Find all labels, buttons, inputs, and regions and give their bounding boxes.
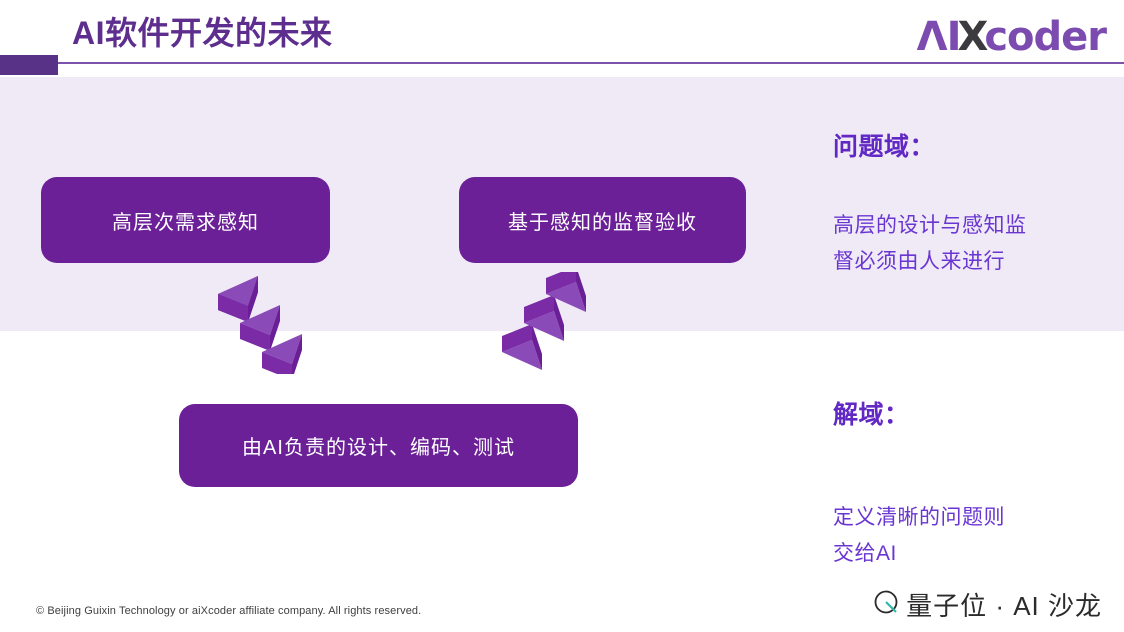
solution-domain-body-line-1: 定义清晰的问题则 bbox=[833, 500, 1103, 536]
aixcoder-logo-x: X bbox=[957, 14, 987, 60]
copyright-notice: © Beijing Guixin Technology or aiXcoder … bbox=[36, 605, 421, 617]
process-box-perception-based-supervision-acceptance[interactable]: 基于感知的监督验收 bbox=[459, 177, 746, 263]
solution-domain-heading: 解域： bbox=[833, 395, 910, 431]
solution-domain-body: 定义清晰的问题则 交给AI bbox=[833, 500, 1103, 572]
aixcoder-logo: ΛIXcoder bbox=[917, 17, 1106, 57]
problem-domain-body: 高层的设计与感知监 督必须由人来进行 bbox=[833, 208, 1103, 280]
problem-domain-heading: 问题域： bbox=[833, 127, 935, 163]
qbit-logo: 量子位 · AI 沙龙 bbox=[872, 588, 1102, 623]
chevron-down-right-icon-1 bbox=[218, 276, 258, 322]
problem-domain-body-line-2: 督必须由人来进行 bbox=[833, 244, 1103, 280]
qbit-q-icon bbox=[872, 588, 902, 623]
slide-root: AI软件开发的未来 ΛIXcoder 高层次需求感知 基于感知的监督验收 由AI… bbox=[0, 0, 1124, 632]
header-accent-block bbox=[0, 55, 58, 75]
process-box-ai-owned-design-coding-testing[interactable]: 由AI负责的设计、编码、测试 bbox=[179, 404, 578, 487]
chevron-down-right-triple-icon bbox=[196, 272, 306, 374]
problem-domain-body-line-1: 高层的设计与感知监 bbox=[833, 208, 1103, 244]
aixcoder-logo-coder: coder bbox=[984, 14, 1106, 60]
page-title: AI软件开发的未来 bbox=[72, 8, 333, 54]
chevron-up-right-triple-icon bbox=[480, 272, 590, 374]
process-box-high-level-requirement-perception[interactable]: 高层次需求感知 bbox=[41, 177, 330, 263]
aixcoder-logo-ai: ΛI bbox=[917, 14, 961, 60]
qbit-logo-text: 量子位 · AI 沙龙 bbox=[906, 593, 1102, 619]
chevron-up-right-icon-1 bbox=[502, 324, 542, 370]
header-divider-rule bbox=[58, 62, 1124, 64]
solution-domain-body-line-2: 交给AI bbox=[833, 536, 1103, 572]
